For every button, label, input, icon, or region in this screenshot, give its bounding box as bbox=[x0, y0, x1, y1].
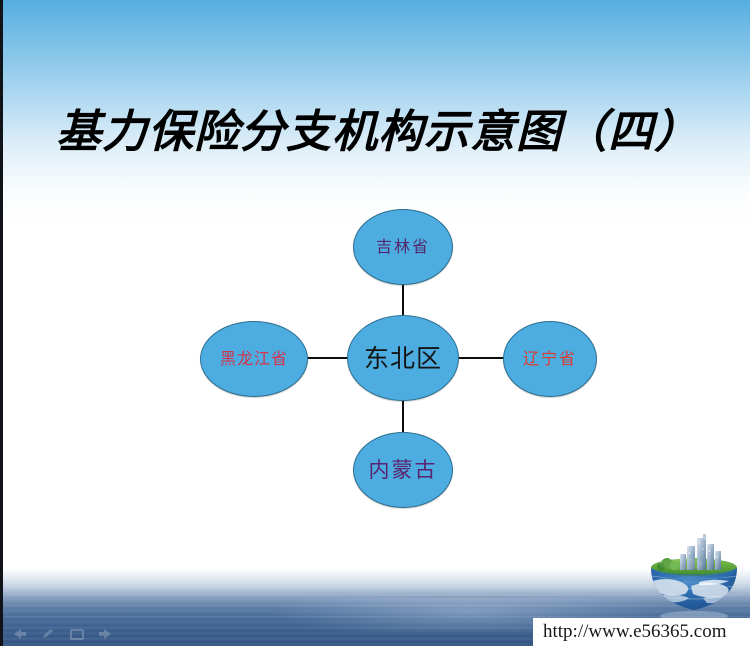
diagram-node-right-label: 辽宁省 bbox=[523, 351, 577, 367]
diagram-node-bottom[interactable]: 内蒙古 bbox=[353, 432, 453, 508]
connector-center-to-left bbox=[303, 357, 351, 359]
diagram-node-center[interactable]: 东北区 bbox=[347, 315, 459, 401]
connector-center-to-bottom bbox=[402, 398, 404, 436]
watermark-bar: http://www.e56365.com bbox=[533, 618, 750, 646]
slideshow-nav-controls[interactable] bbox=[9, 626, 116, 642]
diagram-node-left[interactable]: 黑龙江省 bbox=[200, 321, 308, 397]
pen-annotate-icon[interactable] bbox=[38, 626, 58, 642]
slide-menu-icon[interactable] bbox=[67, 626, 87, 642]
watermark-url: http://www.e56365.com bbox=[543, 621, 726, 643]
org-diagram: 吉林省 黑龙江省 东北区 辽宁省 内蒙古 bbox=[3, 0, 750, 646]
previous-slide-icon[interactable] bbox=[9, 626, 29, 642]
connector-center-to-right bbox=[455, 357, 507, 359]
connector-center-to-top bbox=[402, 283, 404, 319]
globe-city-logo-icon bbox=[641, 524, 747, 622]
diagram-node-top[interactable]: 吉林省 bbox=[353, 209, 453, 285]
diagram-node-left-label: 黑龙江省 bbox=[220, 351, 288, 367]
diagram-node-bottom-label: 内蒙古 bbox=[369, 460, 438, 481]
next-slide-icon[interactable] bbox=[96, 626, 116, 642]
diagram-node-right[interactable]: 辽宁省 bbox=[503, 321, 597, 397]
diagram-node-top-label: 吉林省 bbox=[376, 239, 430, 255]
presentation-slide: 基力保险分支机构示意图（四） 吉林省 黑龙江省 东北区 辽宁省 内蒙古 bbox=[0, 0, 750, 646]
diagram-node-center-label: 东北区 bbox=[364, 346, 442, 371]
